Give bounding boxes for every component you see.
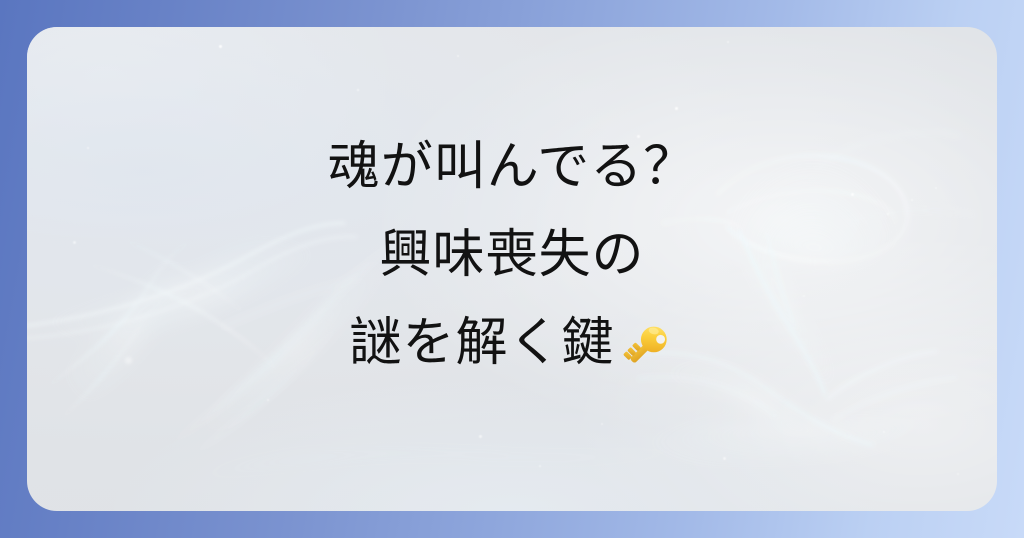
- headline-line-2: 興味喪失の: [27, 211, 997, 299]
- content-card: 魂が叫んでる？ 興味喪失の 謎を解く鍵: [27, 27, 997, 511]
- headline-line-3: 謎を解く鍵: [349, 299, 614, 387]
- key-icon: [617, 318, 675, 376]
- headline-line-1: 魂が叫んでる？: [27, 123, 997, 211]
- thumbnail-frame: 魂が叫んでる？ 興味喪失の 謎を解く鍵: [0, 0, 1024, 538]
- headline-line-3-row: 謎を解く鍵: [349, 299, 674, 387]
- headline-block: 魂が叫んでる？ 興味喪失の 謎を解く鍵: [27, 123, 997, 387]
